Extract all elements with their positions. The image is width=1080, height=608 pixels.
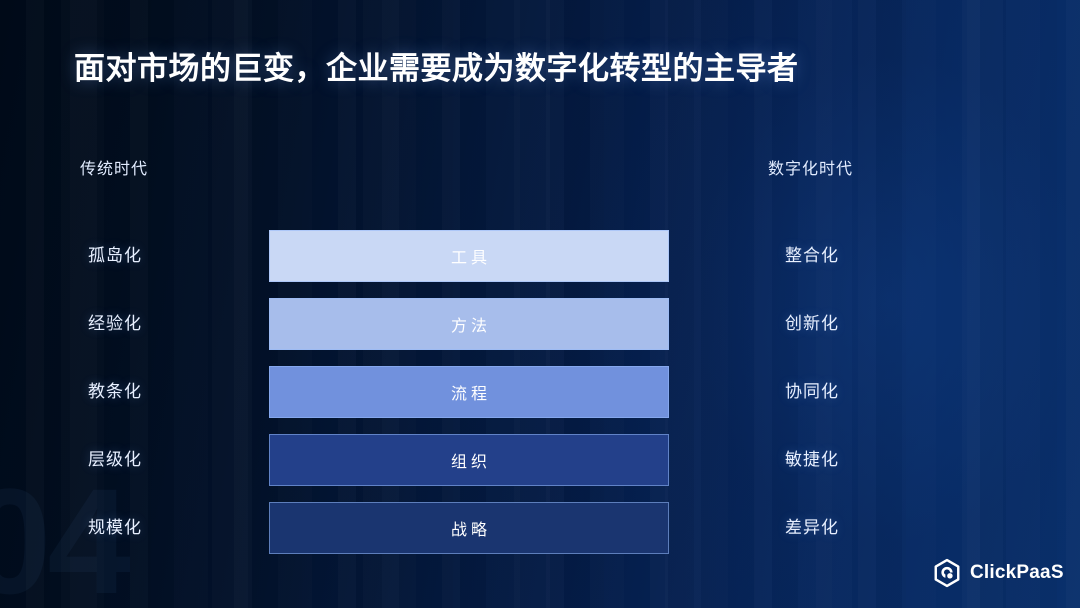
traditional-label: 孤岛化	[88, 230, 142, 282]
comparison-row: 规模化战略差异化	[0, 502, 1080, 554]
hexagon-cube-icon	[932, 558, 962, 588]
digital-label: 敏捷化	[785, 434, 839, 486]
layer-bar[interactable]: 方法	[269, 298, 669, 350]
digital-label: 整合化	[785, 230, 839, 282]
comparison-row: 教条化流程协同化	[0, 366, 1080, 418]
layer-bar-label: 方法	[447, 312, 491, 336]
comparison-row: 层级化组织敏捷化	[0, 434, 1080, 486]
presentation-slide: 04 面对市场的巨变，企业需要成为数字化转型的主导者 传统时代 数字化时代 孤岛…	[0, 0, 1080, 608]
layer-bar-label: 流程	[447, 380, 491, 404]
digital-label: 差异化	[785, 502, 839, 554]
layer-bar-label: 战略	[447, 516, 491, 540]
comparison-row: 经验化方法创新化	[0, 298, 1080, 350]
comparison-row: 孤岛化工具整合化	[0, 230, 1080, 282]
layer-bar-label: 工具	[447, 244, 491, 268]
layer-bar[interactable]: 流程	[269, 366, 669, 418]
digital-label: 创新化	[785, 298, 839, 350]
comparison-rows: 孤岛化工具整合化经验化方法创新化教条化流程协同化层级化组织敏捷化规模化战略差异化	[0, 230, 1080, 570]
layer-bar[interactable]: 战略	[269, 502, 669, 554]
traditional-label: 层级化	[88, 434, 142, 486]
layer-bar[interactable]: 工具	[269, 230, 669, 282]
layer-bar[interactable]: 组织	[269, 434, 669, 486]
brand-logo: ClickPaaS	[932, 558, 1064, 588]
traditional-label: 教条化	[88, 366, 142, 418]
layer-bar-label: 组织	[447, 448, 491, 472]
brand-logo-text: ClickPaaS	[970, 562, 1064, 584]
traditional-label: 经验化	[88, 298, 142, 350]
column-header-traditional: 传统时代	[80, 155, 148, 179]
column-header-digital: 数字化时代	[768, 155, 853, 179]
digital-label: 协同化	[785, 366, 839, 418]
traditional-label: 规模化	[88, 502, 142, 554]
slide-title: 面对市场的巨变，企业需要成为数字化转型的主导者	[74, 43, 799, 88]
